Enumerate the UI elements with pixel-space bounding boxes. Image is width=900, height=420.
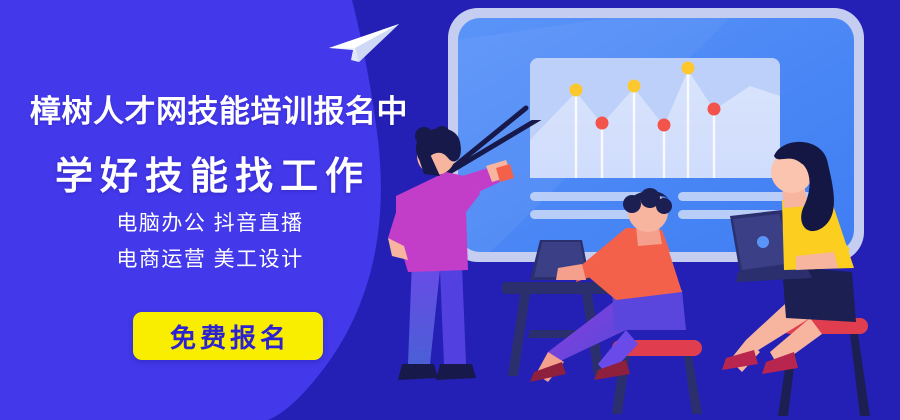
free-signup-label: 免费报名 [166,318,290,355]
page-title: 樟树人才网技能培训报名中 [30,86,410,131]
copy-block: 樟树人才网技能培训报名中 学好技能找工作 电脑办公 抖音直播 电商运营 美工设计… [0,0,430,420]
subject-line-1: 电脑办公 抖音直播 [0,206,420,242]
subtitle: 学好技能找工作 [55,145,435,200]
subject-list: 电脑办公 抖音直播 电商运营 美工设计 [0,206,420,278]
subject-line-2: 电商运营 美工设计 [0,242,420,278]
free-signup-button[interactable]: 免费报名 [133,312,323,360]
promo-banner: 樟树人才网技能培训报名中 学好技能找工作 电脑办公 抖音直播 电商运营 美工设计… [0,0,900,420]
